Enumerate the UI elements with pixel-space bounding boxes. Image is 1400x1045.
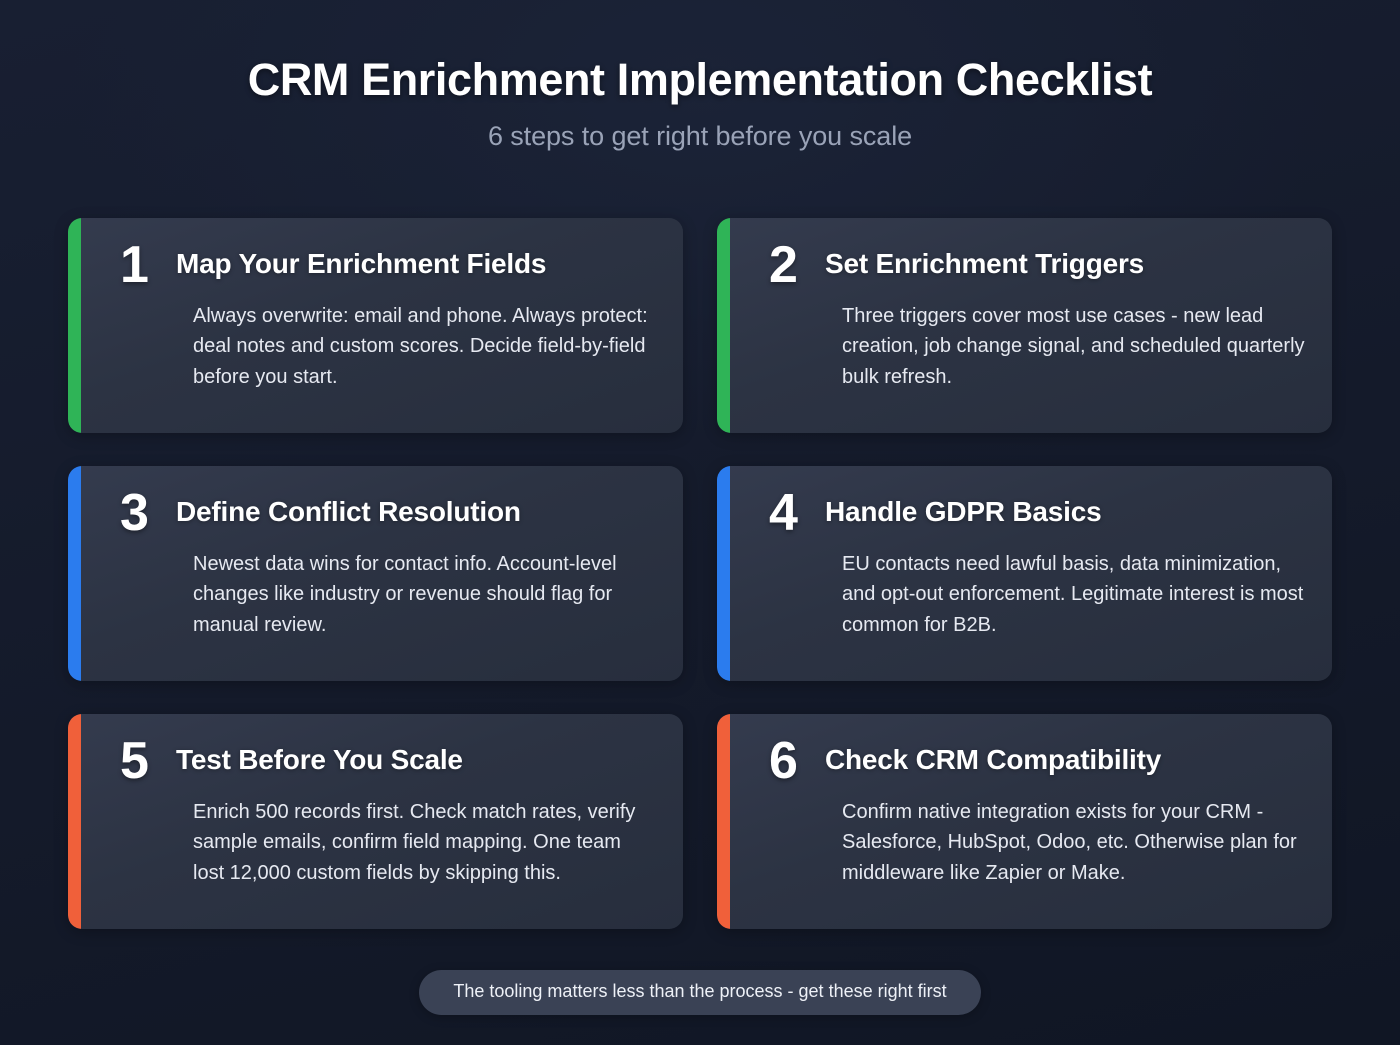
step-number-3: 3 xyxy=(120,490,176,538)
page-title: CRM Enrichment Implementation Checklist xyxy=(0,56,1400,103)
step-description-2: Three triggers cover most use cases - ne… xyxy=(842,301,1306,393)
card-body-4: 4 Handle GDPR Basics EU contacts need la… xyxy=(730,466,1332,681)
step-title-2: Set Enrichment Triggers xyxy=(825,242,1144,279)
step-number-5: 5 xyxy=(120,738,176,786)
step-description-1: Always overwrite: email and phone. Alway… xyxy=(193,301,657,393)
accent-bar-5 xyxy=(68,714,81,929)
card-head-2: 2 Set Enrichment Triggers xyxy=(730,242,1306,290)
page-header: CRM Enrichment Implementation Checklist … xyxy=(0,0,1400,152)
step-number-4: 4 xyxy=(769,490,825,538)
step-title-4: Handle GDPR Basics xyxy=(825,490,1102,527)
step-title-3: Define Conflict Resolution xyxy=(176,490,521,527)
card-body-3: 3 Define Conflict Resolution Newest data… xyxy=(81,466,683,681)
card-body-1: 1 Map Your Enrichment Fields Always over… xyxy=(81,218,683,433)
checklist-card-6: 6 Check CRM Compatibility Confirm native… xyxy=(717,714,1332,929)
card-head-6: 6 Check CRM Compatibility xyxy=(730,738,1306,786)
step-number-1: 1 xyxy=(120,242,176,290)
accent-bar-1 xyxy=(68,218,81,433)
checklist-card-1: 1 Map Your Enrichment Fields Always over… xyxy=(68,218,683,433)
step-description-6: Confirm native integration exists for yo… xyxy=(842,797,1306,889)
card-head-5: 5 Test Before You Scale xyxy=(81,738,657,786)
step-number-6: 6 xyxy=(769,738,825,786)
card-head-3: 3 Define Conflict Resolution xyxy=(81,490,657,538)
infographic-page: CRM Enrichment Implementation Checklist … xyxy=(0,0,1400,1045)
step-title-6: Check CRM Compatibility xyxy=(825,738,1161,775)
checklist-card-4: 4 Handle GDPR Basics EU contacts need la… xyxy=(717,466,1332,681)
step-title-5: Test Before You Scale xyxy=(176,738,463,775)
step-description-3: Newest data wins for contact info. Accou… xyxy=(193,549,657,641)
card-body-2: 2 Set Enrichment Triggers Three triggers… xyxy=(730,218,1332,433)
step-number-2: 2 xyxy=(769,242,825,290)
card-body-6: 6 Check CRM Compatibility Confirm native… xyxy=(730,714,1332,929)
accent-bar-2 xyxy=(717,218,730,433)
step-title-1: Map Your Enrichment Fields xyxy=(176,242,546,279)
card-head-1: 1 Map Your Enrichment Fields xyxy=(81,242,657,290)
checklist-card-2: 2 Set Enrichment Triggers Three triggers… xyxy=(717,218,1332,433)
accent-bar-3 xyxy=(68,466,81,681)
checklist-card-5: 5 Test Before You Scale Enrich 500 recor… xyxy=(68,714,683,929)
step-description-4: EU contacts need lawful basis, data mini… xyxy=(842,549,1306,641)
card-body-5: 5 Test Before You Scale Enrich 500 recor… xyxy=(81,714,683,929)
checklist-grid: 1 Map Your Enrichment Fields Always over… xyxy=(68,218,1332,929)
accent-bar-4 xyxy=(717,466,730,681)
page-footer: The tooling matters less than the proces… xyxy=(0,970,1400,1015)
page-subtitle: 6 steps to get right before you scale xyxy=(0,121,1400,152)
footer-note-pill: The tooling matters less than the proces… xyxy=(419,970,980,1015)
accent-bar-6 xyxy=(717,714,730,929)
checklist-card-3: 3 Define Conflict Resolution Newest data… xyxy=(68,466,683,681)
card-head-4: 4 Handle GDPR Basics xyxy=(730,490,1306,538)
step-description-5: Enrich 500 records first. Check match ra… xyxy=(193,797,657,889)
